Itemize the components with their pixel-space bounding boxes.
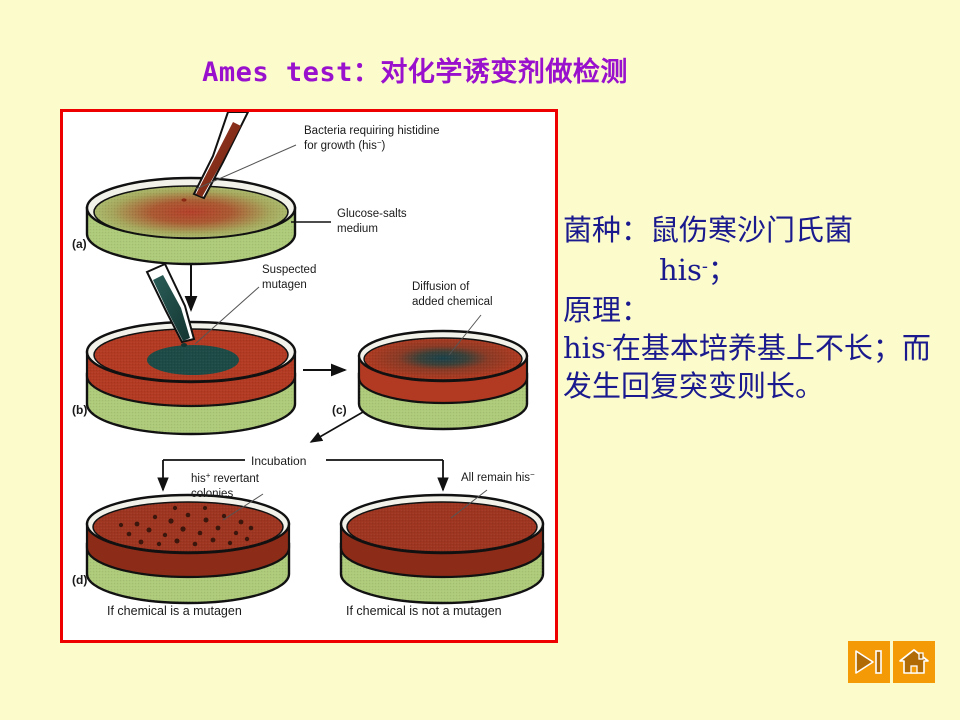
petri-dish-a: [87, 178, 295, 264]
his-tail: ；: [708, 253, 737, 287]
page-title: Ames test：对化学诱变剂做检测: [0, 50, 830, 89]
panel-letter-d: (d): [72, 573, 87, 587]
navigation-buttons: [848, 641, 935, 683]
label-medium-line2: medium: [337, 223, 378, 235]
his-label: his: [659, 253, 702, 287]
ames-test-figure-panel: Bacteria requiring histidine for growth …: [60, 109, 558, 643]
label-medium-line1: Glucose-salts: [337, 208, 407, 220]
petri-dish-d: [87, 495, 289, 603]
his-tail-2: 在基本培养基上不长；而发生回复突变则长。: [563, 331, 931, 403]
label-bacteria-line1: Bacteria requiring histidine: [304, 125, 440, 137]
home-icon: [898, 648, 930, 676]
panel-letter-b: (b): [72, 403, 87, 417]
label-bacteria-line2: for growth (his−): [304, 138, 386, 153]
home-button[interactable]: [893, 641, 935, 683]
explanation-text-block: 菌种：鼠伤寒沙门氏菌 his-； 原理： his-在基本培养基上不长；而发生回复…: [563, 210, 953, 405]
notes-line-strain: 菌种：鼠伤寒沙门氏菌: [563, 210, 953, 250]
play-to-end-icon: [853, 648, 885, 676]
panel-letter-a: (a): [72, 237, 87, 251]
next-slide-button[interactable]: [848, 641, 890, 683]
caption-left: If chemical is a mutagen: [107, 604, 242, 618]
notes-line-principle-body: his-在基本培养基上不长；而发生回复突变则长。: [563, 330, 953, 405]
petri-dish-c: [359, 331, 527, 429]
notes-line-his-minus: his-；: [563, 250, 953, 290]
label-revertant-line2: colonies: [191, 488, 233, 500]
ames-test-diagram: Bacteria requiring histidine for growth …: [63, 112, 555, 640]
label-mutagen-line1: Suspected: [262, 264, 316, 276]
notes-line-principle: 原理：: [563, 290, 953, 330]
label-incubation: Incubation: [251, 454, 306, 468]
label-diffusion-line2: added chemical: [412, 296, 493, 308]
caption-right: If chemical is not a mutagen: [346, 604, 502, 618]
label-mutagen-line2: mutagen: [262, 279, 307, 291]
label-revertant-line1: his+ revertant: [191, 471, 260, 486]
label-all-remain-his: All remain his−: [461, 470, 535, 485]
label-diffusion-line1: Diffusion of: [412, 281, 470, 293]
petri-dish-control: [341, 495, 543, 603]
panel-letter-c: (c): [332, 403, 347, 417]
his-label-2: his: [563, 331, 606, 365]
